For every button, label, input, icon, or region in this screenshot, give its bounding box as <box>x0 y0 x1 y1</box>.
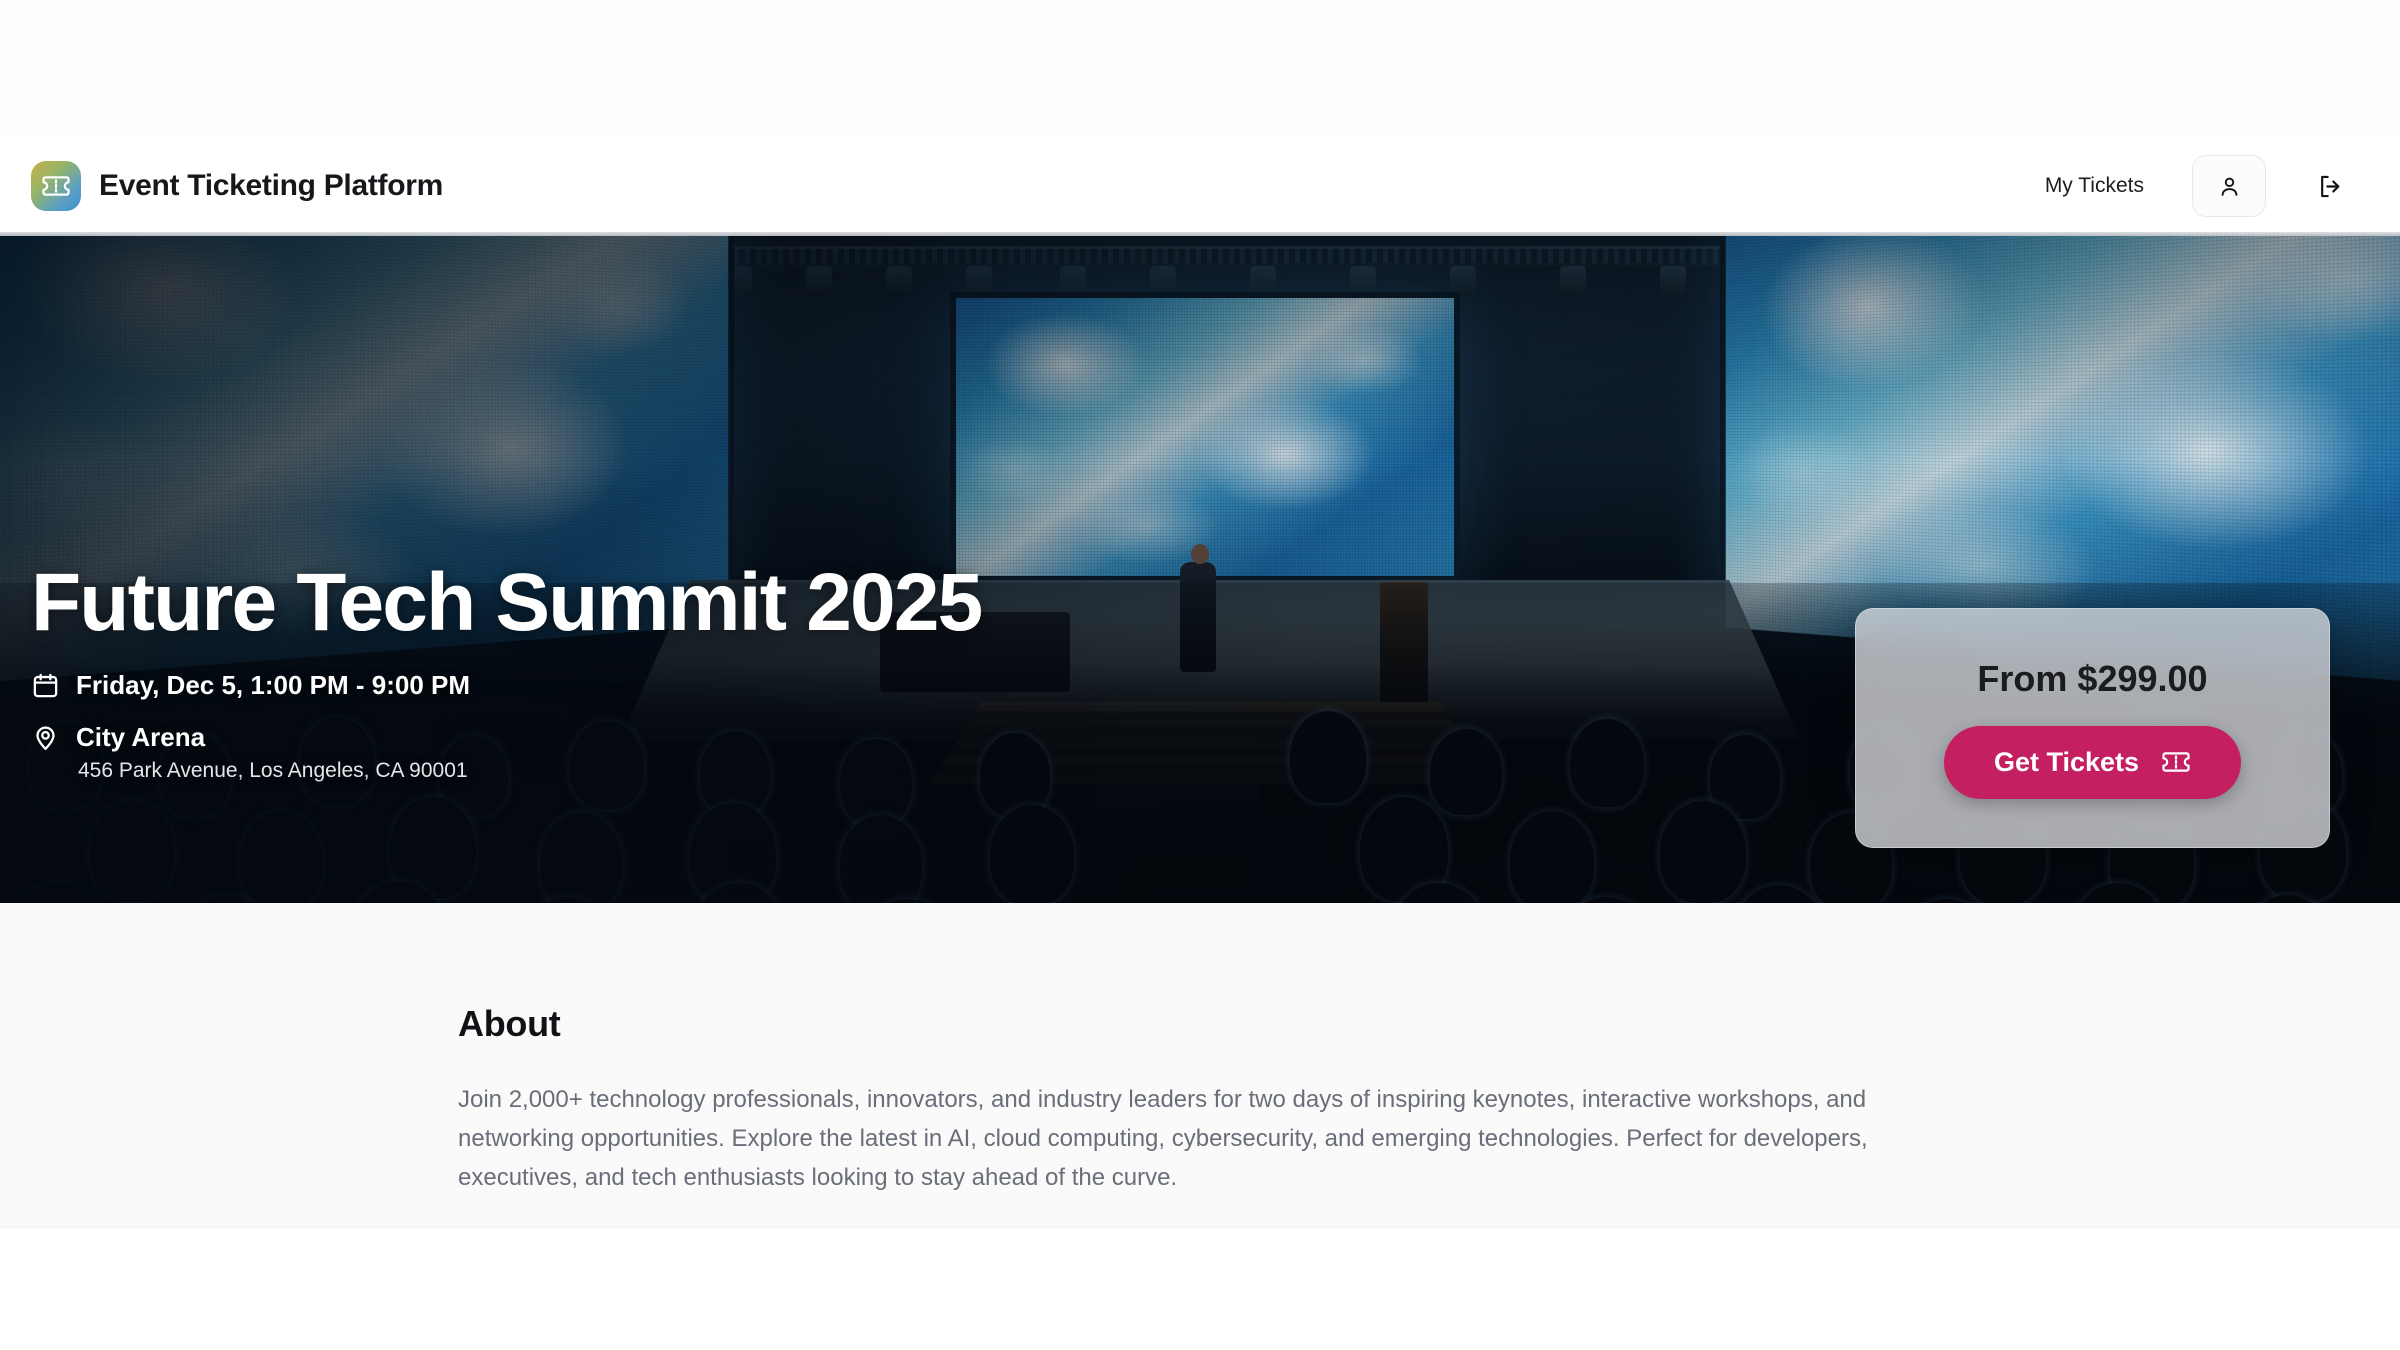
ticket-price-card: From $299.00 Get Tickets <box>1855 608 2330 848</box>
event-title: Future Tech Summit 2025 <box>31 562 981 644</box>
logout-button[interactable] <box>2304 160 2356 212</box>
site-header: Event Ticketing Platform My Tickets <box>0 140 2400 232</box>
user-icon <box>2217 174 2242 199</box>
get-tickets-button[interactable]: Get Tickets <box>1944 726 2241 799</box>
logout-icon <box>2317 173 2344 200</box>
get-tickets-label: Get Tickets <box>1994 747 2139 778</box>
event-datetime: Friday, Dec 5, 1:00 PM - 9:00 PM <box>76 670 470 701</box>
header-actions: My Tickets <box>2045 155 2356 217</box>
top-gutter <box>0 0 2400 140</box>
hero-content: Future Tech Summit 2025 Friday, Dec 5, 1… <box>31 562 981 783</box>
section-bottom-edge <box>0 1226 2400 1229</box>
brand-logo-group[interactable]: Event Ticketing Platform <box>31 161 443 211</box>
hero-banner: Future Tech Summit 2025 Friday, Dec 5, 1… <box>0 232 2400 903</box>
map-pin-icon <box>31 723 60 752</box>
account-button[interactable] <box>2192 155 2266 217</box>
ticket-icon <box>2161 751 2191 773</box>
event-datetime-row: Friday, Dec 5, 1:00 PM - 9:00 PM <box>31 670 981 701</box>
page-root: Event Ticketing Platform My Tickets <box>0 0 2400 1350</box>
calendar-icon <box>31 671 60 700</box>
nav-my-tickets[interactable]: My Tickets <box>2045 174 2144 198</box>
event-address: 456 Park Avenue, Los Angeles, CA 90001 <box>78 759 981 783</box>
about-section: About Join 2,000+ technology professiona… <box>0 903 2400 1228</box>
about-description: Join 2,000+ technology professionals, in… <box>458 1081 1948 1198</box>
about-heading: About <box>458 1003 1948 1045</box>
price-from-label: From $299.00 <box>1977 658 2207 700</box>
event-venue: City Arena <box>76 722 205 753</box>
ticket-logo-icon <box>31 161 81 211</box>
brand-title: Event Ticketing Platform <box>99 169 443 203</box>
about-wrapper: About Join 2,000+ technology professiona… <box>458 1003 1948 1198</box>
event-venue-row: City Arena <box>31 722 981 753</box>
